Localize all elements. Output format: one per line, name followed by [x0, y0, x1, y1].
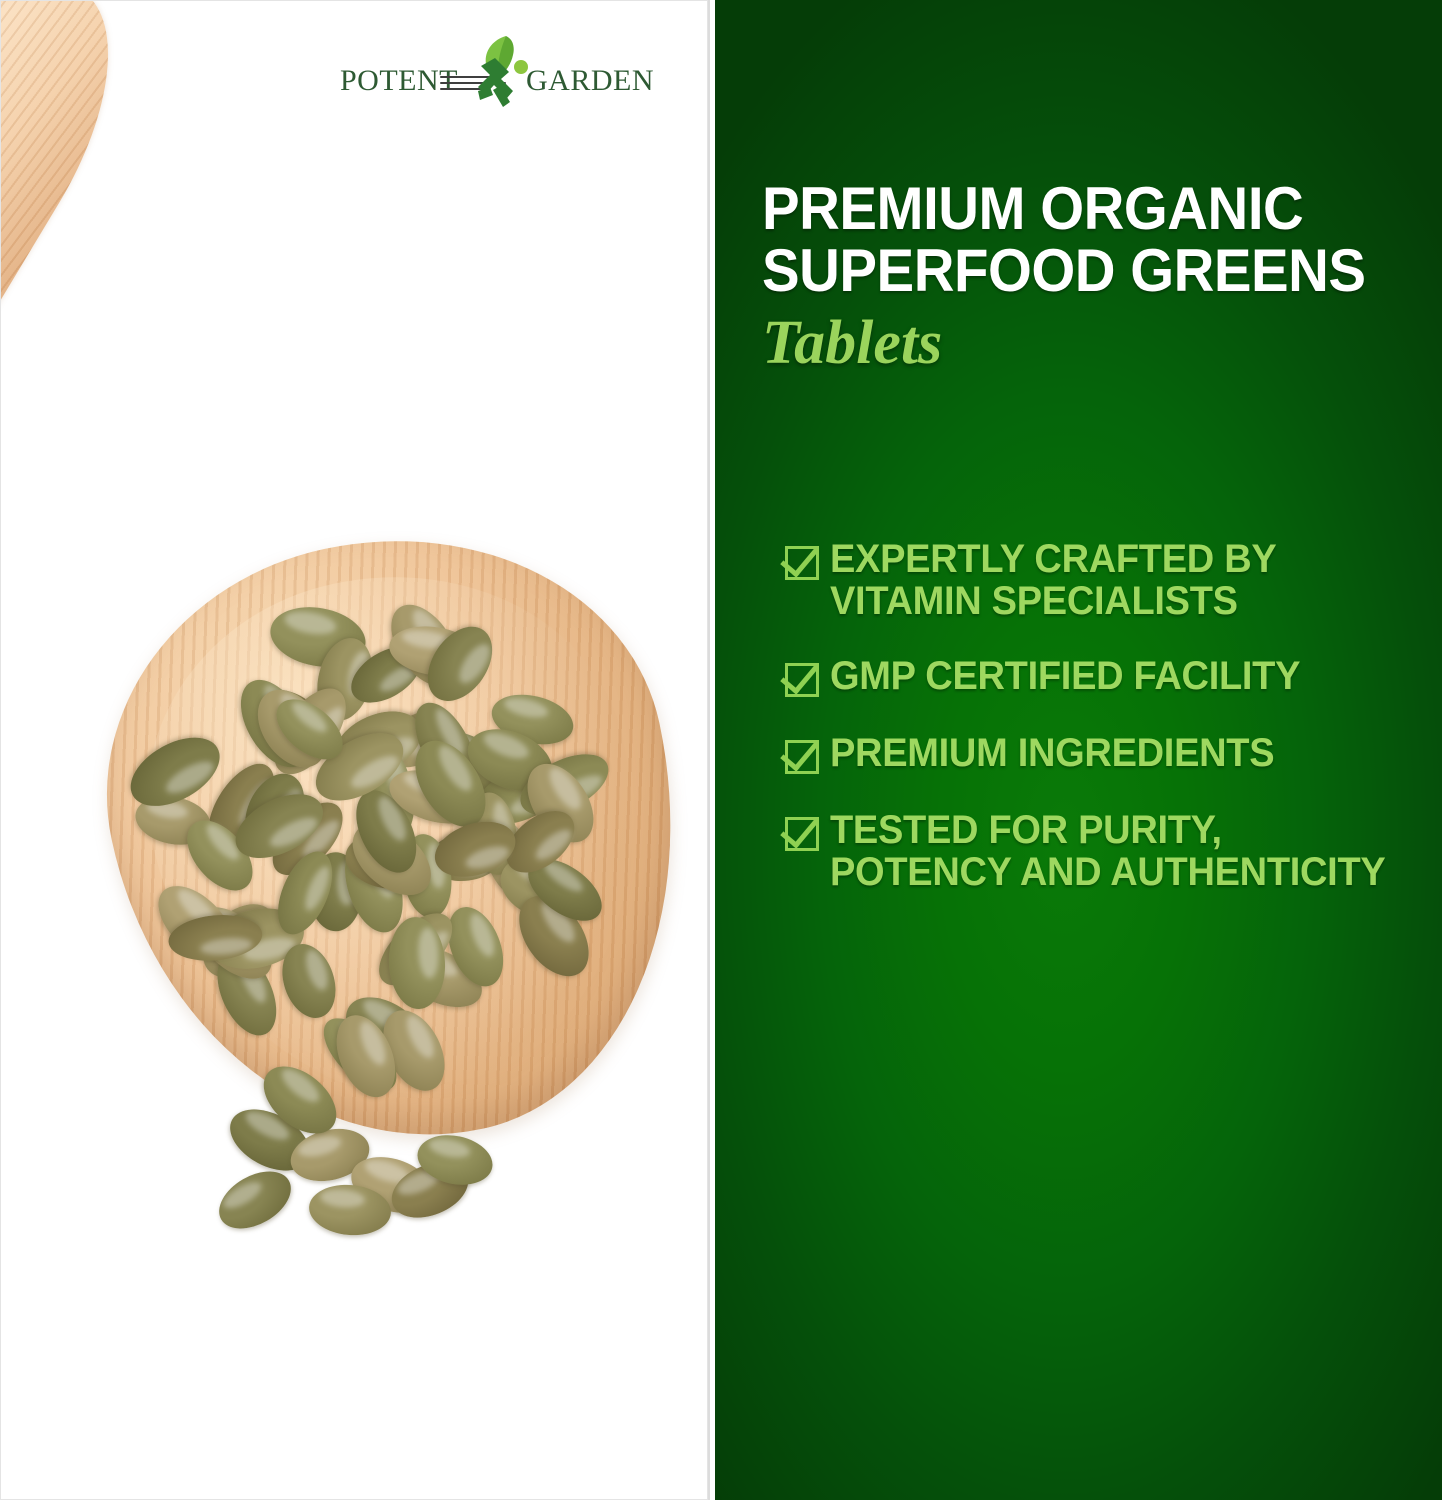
- brand-logo: POTENT GARDEN: [340, 40, 650, 118]
- headline-line-3: Tablets: [762, 306, 1422, 380]
- feature-bullet: TESTED FOR PURITY, POTENCY AND AUTHENTIC…: [781, 809, 1431, 893]
- product-image-panel: POTENT GARDEN: [0, 0, 710, 1500]
- checked-box-icon: [781, 538, 821, 582]
- feature-bullet-label: EXPERTLY CRAFTED BY VITAMIN SPECIALISTS: [830, 538, 1401, 622]
- feature-bullet-label: PREMIUM INGREDIENTS: [830, 732, 1274, 774]
- feature-bullet-list: EXPERTLY CRAFTED BY VITAMIN SPECIALISTSG…: [781, 538, 1431, 893]
- spoon-with-tablets-photo: [0, 0, 708, 1500]
- feature-bullet-label: TESTED FOR PURITY, POTENCY AND AUTHENTIC…: [830, 809, 1401, 893]
- headline-block: PREMIUM ORGANIC SUPERFOOD GREENS Tablets: [762, 178, 1422, 380]
- tablet: [209, 1160, 301, 1241]
- checked-box-icon: [781, 809, 821, 853]
- checked-box-icon: [781, 732, 821, 776]
- leaf-runner-icon: [448, 34, 538, 118]
- headline-line-1: PREMIUM ORGANIC: [762, 178, 1382, 240]
- feature-bullet: EXPERTLY CRAFTED BY VITAMIN SPECIALISTS: [781, 538, 1431, 622]
- spoon-handle: [0, 0, 159, 586]
- product-infographic: POTENT GARDEN PREMIUM ORGANIC SUPERFOOD …: [0, 0, 1442, 1500]
- feature-bullet-label: GMP CERTIFIED FACILITY: [830, 655, 1300, 697]
- feature-bullet: GMP CERTIFIED FACILITY: [781, 655, 1431, 699]
- checked-box-icon: [781, 655, 821, 699]
- feature-bullet: PREMIUM INGREDIENTS: [781, 732, 1431, 776]
- marketing-panel: PREMIUM ORGANIC SUPERFOOD GREENS Tablets…: [715, 0, 1442, 1500]
- wood-grain-texture: [0, 0, 159, 586]
- logo-word-garden: GARDEN: [526, 64, 654, 98]
- headline-line-2: SUPERFOOD GREENS: [762, 240, 1382, 302]
